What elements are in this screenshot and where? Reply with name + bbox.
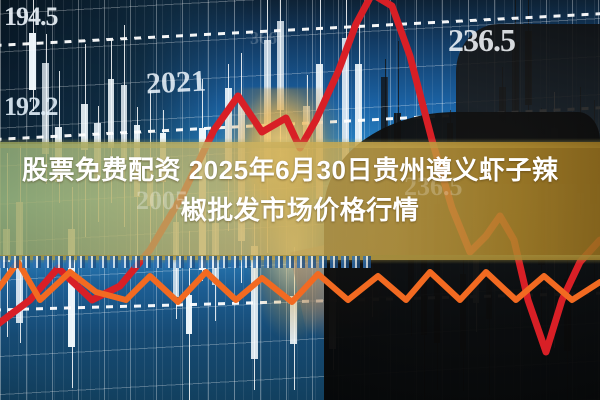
vignette-overlay [0,0,600,400]
article-header-image: 194.5 192.2 2021 236.5 366 2005 236.5 股票… [0,0,600,400]
